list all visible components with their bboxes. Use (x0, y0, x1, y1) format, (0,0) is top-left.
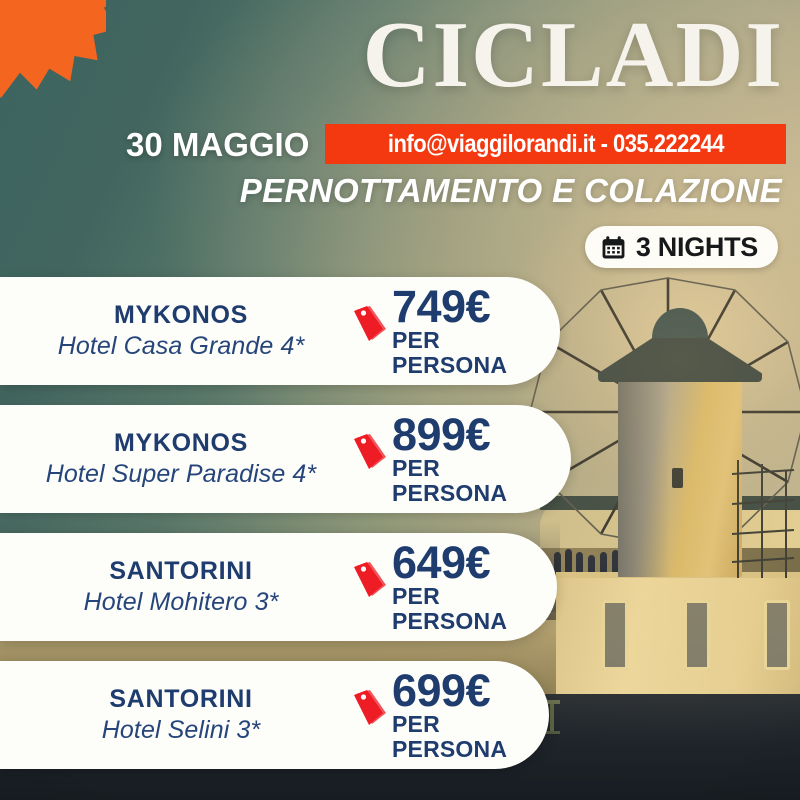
offer-info: MYKONOS Hotel Super Paradise 4* (0, 428, 352, 491)
price-block: 699€ PER PERSONA (392, 668, 535, 762)
offer-price-group: 749€ PER PERSONA (352, 284, 560, 378)
offer-price: 649€ (392, 540, 543, 586)
offer-price-group: 699€ PER PERSONA (352, 668, 549, 762)
offer-per-person: PER PERSONA (392, 456, 557, 507)
nights-badge: 3 NIGHTS (585, 226, 778, 268)
offer-price: 749€ (392, 284, 546, 330)
tagline: PERNOTTAMENTO E COLAZIONE (240, 172, 782, 210)
offer-card[interactable]: MYKONOS Hotel Super Paradise 4* 899€ PER… (0, 405, 571, 513)
date-and-contact-row: 30 MAGGIO info@viaggilorandi.it - 035.22… (126, 122, 786, 166)
offer-price: 899€ (392, 412, 557, 458)
page-title: CICLADI (363, 8, 784, 102)
offer-hotel: Hotel Selini 3* (10, 714, 352, 747)
offer-destination: SANTORINI (10, 556, 352, 587)
price-block: 649€ PER PERSONA (392, 540, 543, 634)
offer-info: SANTORINI Hotel Mohitero 3* (0, 556, 352, 619)
offer-card[interactable]: MYKONOS Hotel Casa Grande 4* 749€ PER PE… (0, 277, 560, 385)
travel-offer-poster: CICLADI 30 MAGGIO info@viaggilorandi.it … (0, 0, 800, 800)
offer-info: SANTORINI Hotel Selini 3* (0, 684, 352, 747)
price-tag-icon (352, 432, 390, 474)
offer-price: 699€ (392, 668, 535, 714)
price-block: 899€ PER PERSONA (392, 412, 557, 506)
offer-card[interactable]: SANTORINI Hotel Mohitero 3* 649€ PER PER… (0, 533, 557, 641)
offer-hotel: Hotel Mohitero 3* (10, 586, 352, 619)
contact-badge[interactable]: info@viaggilorandi.it - 035.222244 (325, 124, 786, 164)
offer-destination: MYKONOS (10, 300, 352, 331)
offer-per-person: PER PERSONA (392, 712, 535, 763)
calendar-icon (601, 235, 626, 260)
offer-price-group: 649€ PER PERSONA (352, 540, 557, 634)
price-tag-icon (352, 688, 390, 730)
contact-text: info@viaggilorandi.it - 035.222244 (388, 132, 724, 157)
offer-destination: SANTORINI (10, 684, 352, 715)
price-tag-icon (352, 304, 390, 346)
offer-card[interactable]: SANTORINI Hotel Selini 3* 699€ PER PERSO… (0, 661, 549, 769)
offer-per-person: PER PERSONA (392, 328, 546, 379)
offer-hotel: Hotel Casa Grande 4* (10, 330, 352, 363)
offer-per-person: PER PERSONA (392, 584, 543, 635)
departure-date: 30 MAGGIO (126, 128, 309, 161)
nights-label: 3 NIGHTS (636, 234, 758, 261)
price-tag-icon (352, 560, 390, 602)
offer-hotel: Hotel Super Paradise 4* (10, 458, 352, 491)
offer-price-group: 899€ PER PERSONA (352, 412, 571, 506)
offer-destination: MYKONOS (10, 428, 352, 459)
offer-info: MYKONOS Hotel Casa Grande 4* (0, 300, 352, 363)
price-block: 749€ PER PERSONA (392, 284, 546, 378)
